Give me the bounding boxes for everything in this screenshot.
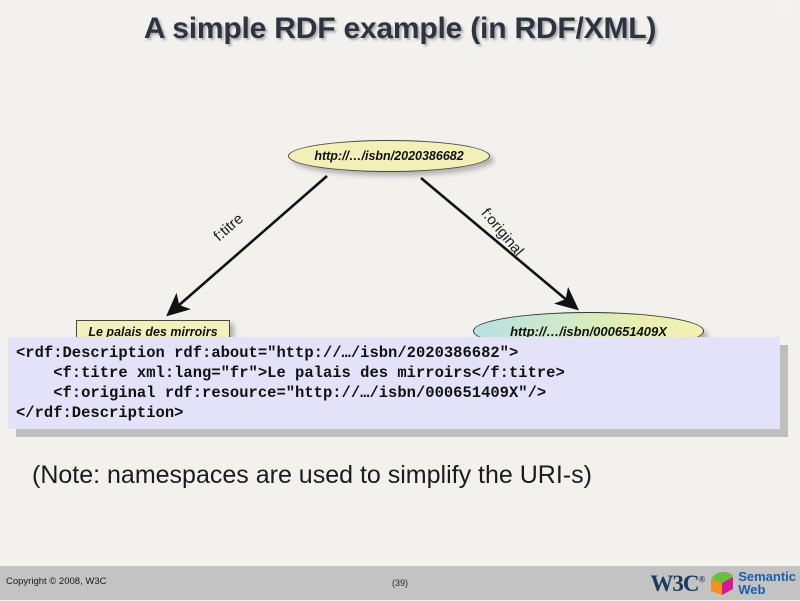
rdf-graph-diagram: http://…/isbn/2020386682 Le palais des m…: [0, 60, 800, 325]
page-title: A simple RDF example (in RDF/XML): [0, 12, 800, 46]
note-text: (Note: namespaces are used to simplify t…: [32, 461, 592, 490]
code-block: <rdf:Description rdf:about="http://…/isb…: [8, 337, 780, 429]
semantic-web-line2: Web: [738, 583, 796, 596]
semantic-web-wordmark: Semantic Web: [738, 570, 796, 596]
code-block-text: <rdf:Description rdf:about="http://…/isb…: [16, 343, 780, 423]
edge-line-original: [421, 178, 575, 307]
w3c-logo[interactable]: W3C®: [650, 572, 704, 595]
edge-label-titre: f:titre: [210, 210, 246, 245]
semantic-web-cube-icon: [709, 570, 735, 596]
w3c-logo-text: W3C: [650, 571, 698, 596]
footer-logos: W3C® Semantic Web: [650, 567, 796, 599]
footer-bar: Copyright © 2008, W3C (39) W3C® Semantic…: [0, 566, 800, 600]
edge-label-original: f:original: [477, 205, 526, 259]
graph-node-subject[interactable]: http://…/isbn/2020386682: [288, 140, 490, 172]
semantic-web-logo[interactable]: Semantic Web: [709, 570, 796, 596]
w3c-logo-registered-mark: ®: [698, 574, 704, 584]
graph-node-subject-label: http://…/isbn/2020386682: [314, 149, 463, 163]
edge-line-titre: [170, 176, 327, 313]
